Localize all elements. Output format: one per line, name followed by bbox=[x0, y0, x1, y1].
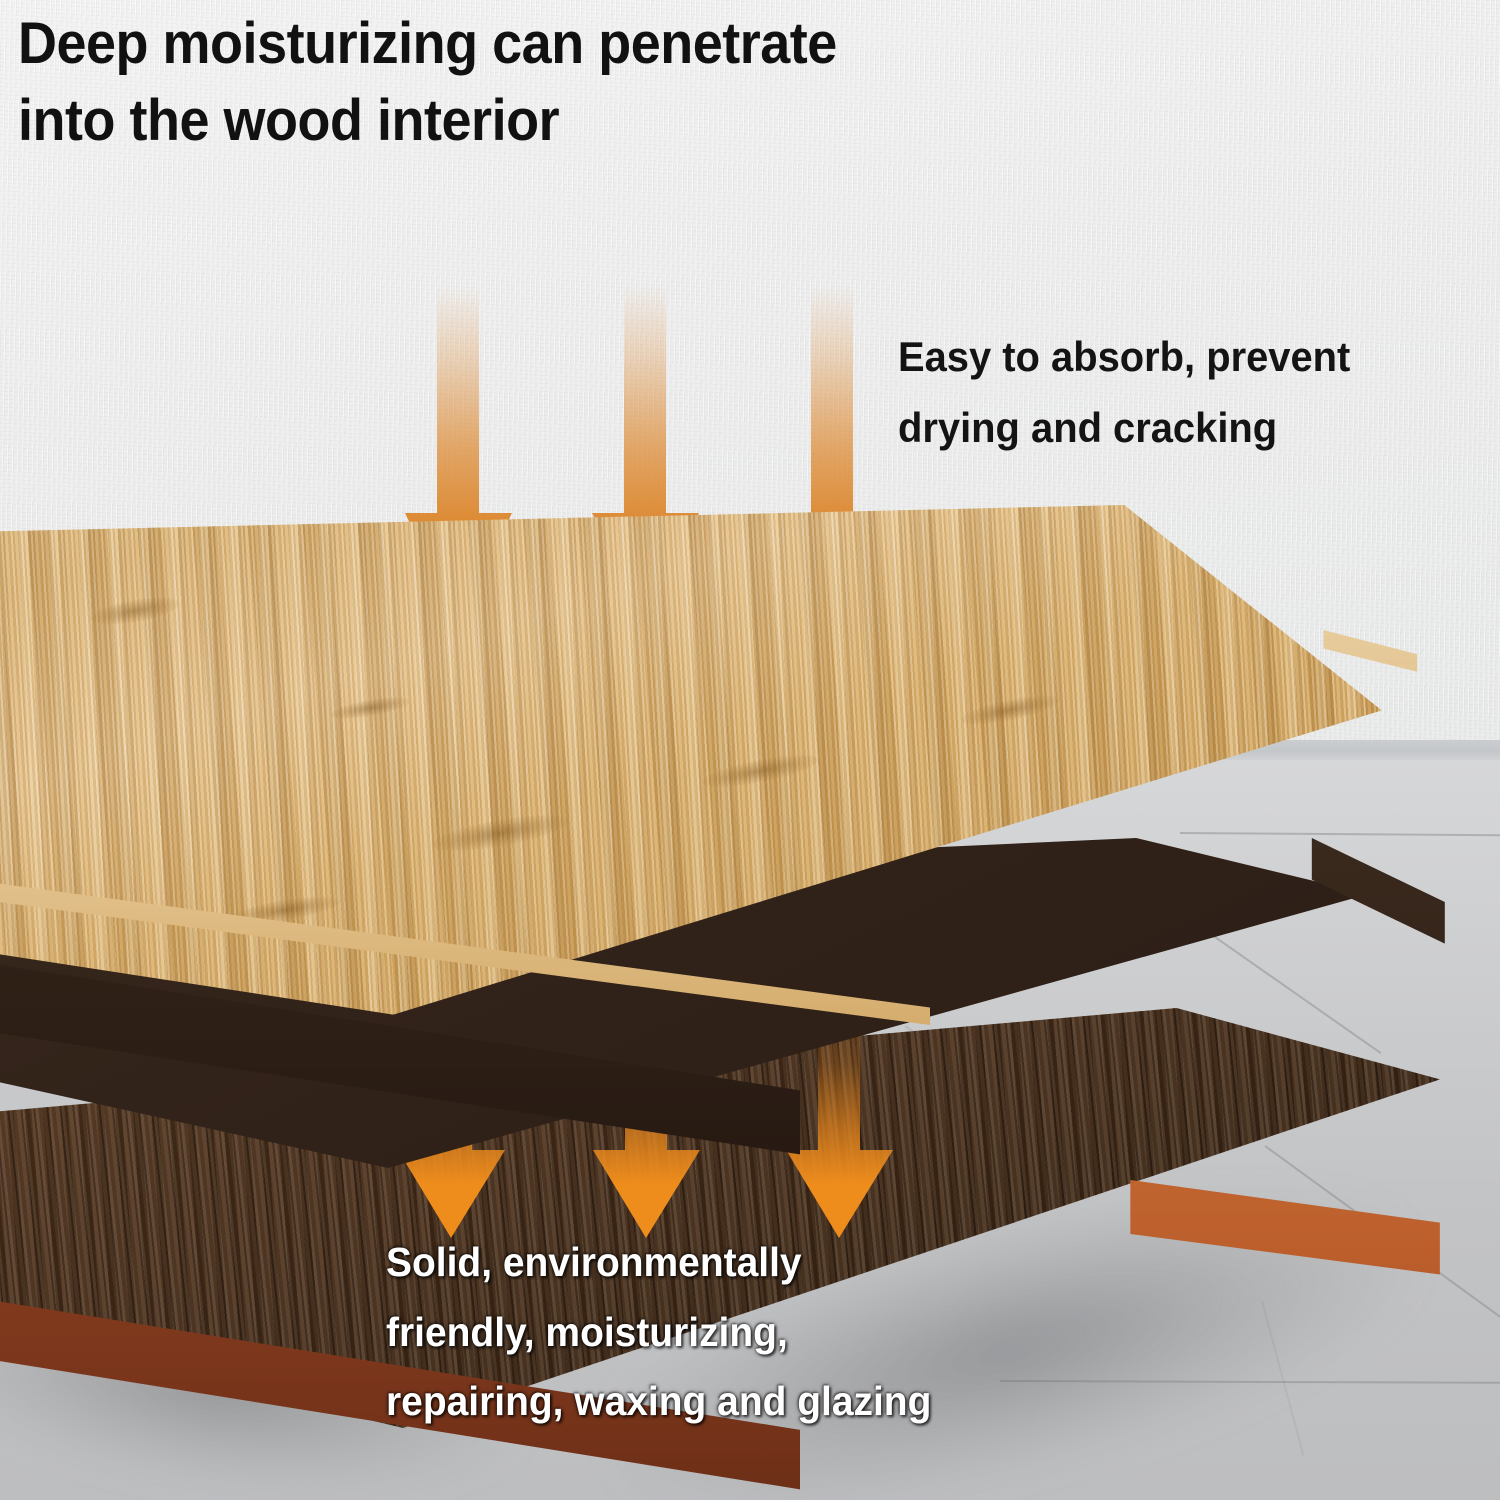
callout-absorb-line-2: drying and cracking bbox=[898, 393, 1468, 464]
page-title-line-2: into the wood interior bbox=[18, 83, 1227, 160]
infographic-scene: Deep moisturizing can penetrate into the… bbox=[0, 0, 1500, 1500]
page-title: Deep moisturizing can penetrate into the… bbox=[18, 6, 1227, 159]
callout-absorb-line-1: Easy to absorb, prevent bbox=[898, 322, 1468, 393]
callout-solid-eco-line-2: friendly, moisturizing, bbox=[386, 1298, 1127, 1368]
callout-solid-eco-line-3: repairing, waxing and glazing bbox=[386, 1367, 1127, 1437]
callout-solid-eco-line-1: Solid, environmentally bbox=[386, 1228, 1127, 1298]
callout-solid-eco: Solid, environmentally friendly, moistur… bbox=[386, 1228, 1127, 1437]
page-title-line-1: Deep moisturizing can penetrate bbox=[18, 6, 1227, 83]
callout-absorb: Easy to absorb, prevent drying and crack… bbox=[898, 322, 1468, 463]
